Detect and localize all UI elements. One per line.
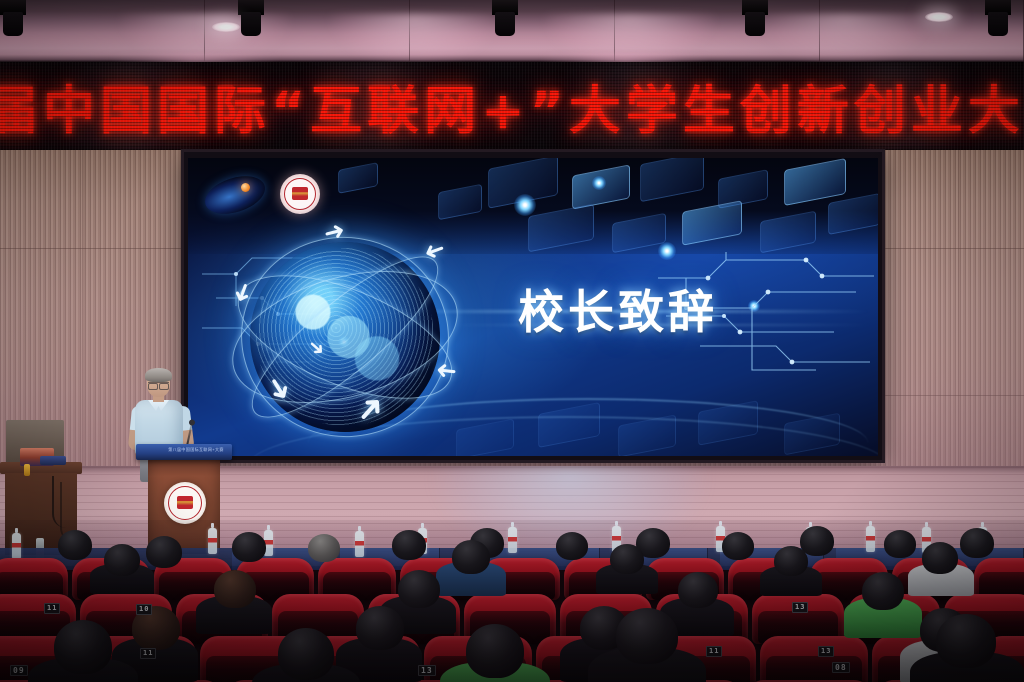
small-lamp-icon	[24, 464, 30, 476]
seat-number-plate: 11	[44, 603, 60, 614]
recessed-ceiling-light-icon	[925, 12, 953, 22]
led-banner: 届中国国际“互联网+”大学生创新创业大	[0, 62, 1024, 150]
audience-head	[678, 572, 718, 608]
seat-number-plate: 13	[818, 646, 834, 657]
moving-head-spotlight-icon	[238, 0, 264, 38]
audience-head	[556, 532, 588, 560]
auditorium-photo: 届中国国际“互联网+”大学生创新创业大	[0, 0, 1024, 682]
moving-head-spotlight-icon	[0, 0, 26, 38]
led-banner-text: 届中国国际“互联网+”大学生创新创业大	[0, 69, 1024, 144]
moving-head-spotlight-icon	[985, 0, 1011, 38]
university-seal-icon	[280, 174, 320, 214]
moving-head-spotlight-icon	[742, 0, 768, 38]
galaxy-swirl-icon	[204, 178, 266, 212]
seat-number-plate: 10	[136, 604, 152, 615]
audience-head	[884, 530, 916, 558]
flow-arrow-icon: ➜	[435, 357, 458, 384]
audience-head	[960, 528, 994, 558]
audience-head	[610, 544, 644, 574]
audience-head	[774, 546, 808, 576]
audience-head	[54, 620, 112, 674]
podium-panel-text: 第八届中国国际互联网+大赛	[154, 447, 238, 457]
audience-head	[800, 526, 834, 556]
audience-head	[616, 608, 678, 664]
audience-seating: 11 10 13 11 11 13	[0, 520, 1024, 682]
glasses-icon	[148, 382, 169, 387]
recessed-ceiling-light-icon	[212, 22, 240, 32]
audience-head	[392, 530, 426, 560]
audience-head	[308, 534, 340, 562]
audience-head	[722, 532, 754, 560]
audience-head	[232, 532, 266, 562]
audience-head	[356, 606, 404, 650]
hair	[145, 368, 172, 382]
seat-number-plate: 11	[140, 648, 156, 659]
seat-number-plate: 13	[418, 665, 436, 676]
globe-graphic: ➜ ➜ ➜ ➜ ➜ ➜ ➜	[250, 242, 440, 432]
audience-head	[104, 544, 140, 576]
projection-screen[interactable]: ➜ ➜ ➜ ➜ ➜ ➜ ➜ 校长致辞	[184, 152, 882, 460]
moving-head-spotlight-icon	[492, 0, 518, 38]
audience-head	[936, 614, 996, 668]
control-box-icon	[40, 456, 66, 465]
auditorium-seat[interactable]	[760, 636, 868, 682]
university-seal-icon	[164, 482, 206, 524]
audience-head	[398, 570, 440, 608]
audience-head	[214, 570, 256, 608]
audience-head	[146, 536, 182, 568]
seat-number-plate: 11	[706, 646, 722, 657]
seat-number-plate: 13	[792, 602, 808, 613]
audience-head	[278, 628, 334, 680]
audience-head	[452, 540, 490, 574]
ceiling	[0, 0, 1024, 62]
audience-head	[862, 572, 904, 610]
audience-head	[58, 530, 92, 560]
audience-head	[466, 624, 524, 678]
audience-head	[922, 542, 958, 574]
screen-headline: 校长致辞	[518, 276, 718, 342]
screen-surface: ➜ ➜ ➜ ➜ ➜ ➜ ➜ 校长致辞	[188, 158, 878, 456]
seat-number-plate: 09	[10, 665, 28, 676]
seat-number-plate: 08	[832, 662, 850, 673]
